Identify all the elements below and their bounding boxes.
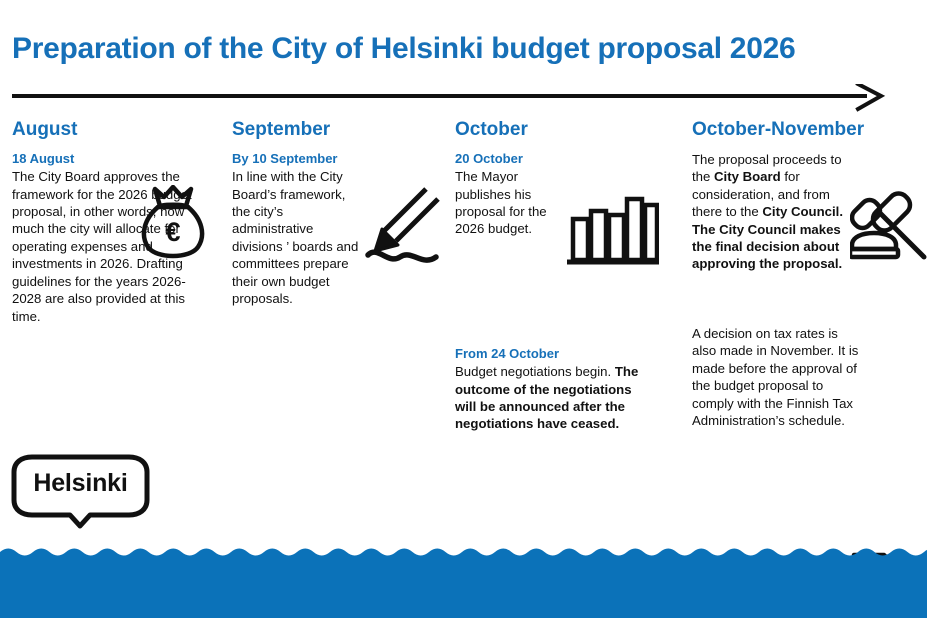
page-title: Preparation of the City of Helsinki budg…	[12, 32, 795, 66]
event-block-10-september: By 10 September In line with the City Bo…	[232, 151, 447, 308]
wave-footer	[0, 538, 927, 618]
month-heading-october-november: October-November	[692, 120, 927, 141]
gavel-icon	[850, 183, 927, 274]
event-text-regular: Budget negotiations begin.	[455, 364, 615, 379]
timeline-arrow	[12, 84, 892, 112]
month-heading-august: August	[12, 120, 227, 141]
infographic-page: Preparation of the City of Helsinki budg…	[0, 0, 927, 618]
money-bag-euro-icon: €	[130, 185, 216, 276]
event-block-from-24-october: From 24 October Budget negotiations begi…	[455, 346, 685, 433]
bar-chart-icon	[567, 191, 659, 274]
timeline-column-october-november: October-November The proposal proceeds t…	[692, 120, 927, 429]
timeline-column-october: October 20 October The Mayor publishes h…	[455, 120, 685, 433]
event-block-20-october: 20 October The Mayor publishes his propo…	[455, 151, 685, 238]
event-date-20-october: 20 October	[455, 151, 685, 167]
event-date-from-24-october: From 24 October	[455, 346, 685, 362]
svg-text:€: €	[165, 217, 180, 247]
helsinki-logo: Helsinki	[8, 452, 153, 530]
month-heading-october: October	[455, 120, 685, 141]
event-date-by-10-september: By 10 September	[232, 151, 447, 167]
event-block-18-august: 18 August The City Board approves the fr…	[12, 151, 227, 325]
timeline-column-september: September By 10 September In line with t…	[232, 120, 447, 308]
event-date-18-august: 18 August	[12, 151, 227, 167]
month-heading-september: September	[232, 120, 447, 141]
event-block-tax-rates: A decision on tax rates is also made in …	[692, 325, 927, 430]
event-text-bold-city-board: City Board	[714, 169, 781, 184]
event-text-by-10-september: In line with the City Board’s framework,…	[232, 168, 360, 307]
event-text-proposal-proceeds: The proposal proceeds to the City Board …	[692, 151, 862, 273]
event-text-20-october: The Mayor publishes his proposal for the…	[455, 168, 575, 238]
pencil-writing-icon	[360, 183, 450, 274]
event-block-proposal-proceeds: The proposal proceeds to the City Board …	[692, 151, 927, 273]
event-text-from-24-october: Budget negotiations begin. The outcome o…	[455, 363, 645, 433]
event-text-tax-rates: A decision on tax rates is also made in …	[692, 325, 862, 430]
timeline-column-august: August 18 August The City Board approves…	[12, 120, 227, 325]
